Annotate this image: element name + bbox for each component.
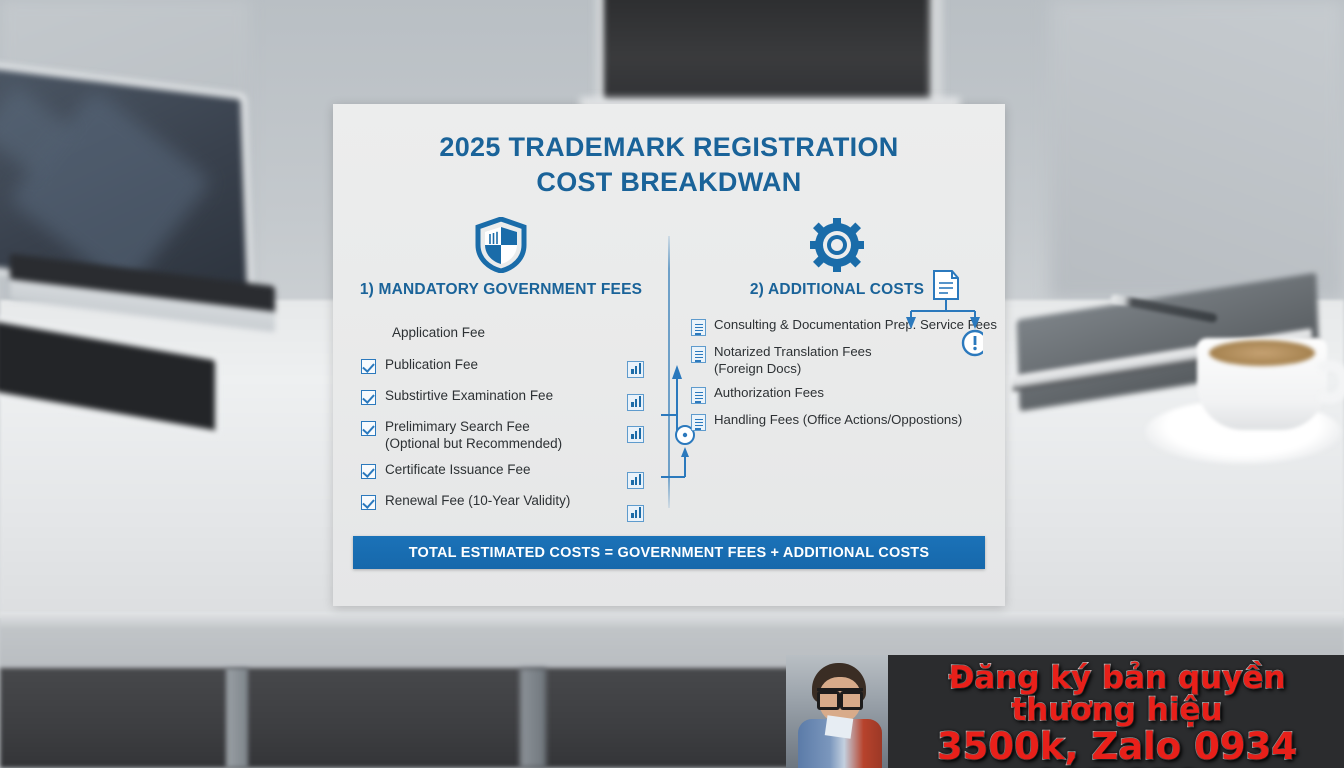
list-item[interactable]: Substirtive Examination Fee: [361, 388, 669, 410]
list-item[interactable]: Publication Fee: [361, 357, 669, 379]
checkbox-checked-icon[interactable]: [361, 359, 376, 374]
title-line-1: 2025 TRADEMARK REGISTRATION: [333, 130, 1005, 165]
flow-diagram-right: [903, 269, 983, 366]
document-icon: [691, 319, 706, 336]
chair-edge-right: [930, 0, 942, 104]
list-item-label: Handling Fees (Office Actions/Oppostions…: [714, 412, 962, 429]
infographic-card: 2025 TRADEMARK REGISTRATION COST BREAKDW…: [333, 104, 1005, 606]
document-icon: [691, 414, 706, 431]
total-estimated-costs-banner: TOTAL ESTIMATED COSTS = GOVERNMENT FEES …: [353, 536, 985, 569]
bar-chart-icon: [627, 361, 644, 378]
arrow-head-right-icon: [970, 317, 980, 329]
glasses-icon: [817, 688, 863, 701]
list-item[interactable]: Handling Fees (Office Actions/Oppostions…: [691, 412, 1005, 431]
presenter-thumbnail: [786, 655, 888, 768]
desk-leg-right: [520, 668, 546, 768]
arrow-head-left-icon: [906, 317, 916, 329]
section-heading-left: 1) MANDATORY GOVERNMENT FEES: [333, 281, 669, 299]
column-mandatory-government-fees: 1) MANDATORY GOVERNMENT FEES Application…: [333, 217, 669, 524]
promo-line-1: Đăng ký bản quyền thương hiệu: [892, 663, 1342, 726]
promo-overlay: Đăng ký bản quyền thương hiệu 3500k, Zal…: [786, 655, 1344, 768]
coffee-liquid: [1209, 340, 1315, 366]
office-chair: [604, 0, 934, 102]
list-item[interactable]: Prelimimary Search Fee (Optional but Rec…: [361, 419, 669, 453]
list-item-label: Notarized Translation Fees (Foreign Docs…: [714, 344, 872, 377]
column-additional-costs: 2) ADDITIONAL COSTS Consulting & Documen…: [669, 217, 1005, 524]
document-icon: [691, 387, 706, 404]
list-item-label: Substirtive Examination Fee: [385, 388, 553, 405]
list-item-label-sub: (Optional but Recommended): [385, 436, 562, 453]
list-item[interactable]: Certificate Issuance Fee: [361, 462, 669, 484]
promo-text-block: Đăng ký bản quyền thương hiệu 3500k, Zal…: [892, 663, 1342, 768]
title-line-2: COST BREAKDWAN: [333, 165, 1005, 200]
list-item-label-main: Notarized Translation Fees: [714, 344, 872, 359]
list-item-label: Prelimimary Search Fee (Optional but Rec…: [385, 419, 562, 453]
list-item-label: Application Fee: [392, 325, 485, 342]
alert-circle-icon: [963, 331, 983, 355]
shield-icon: [333, 217, 669, 273]
banner-label: TOTAL ESTIMATED COSTS = GOVERNMENT FEES …: [409, 545, 930, 561]
wall-panel-right: [1050, 0, 1344, 300]
columns-container: 1) MANDATORY GOVERNMENT FEES Application…: [333, 217, 1005, 524]
checkbox-checked-icon[interactable]: [361, 464, 376, 479]
document-node-icon: [934, 271, 958, 299]
promo-line-2: 3500k, Zalo 0934 023 850: [892, 728, 1342, 768]
list-item-label: Renewal Fee (10-Year Validity): [385, 493, 570, 510]
government-fees-list: Application Fee Publication Fee Substirt…: [361, 325, 669, 515]
checkbox-checked-icon[interactable]: [361, 390, 376, 405]
list-item[interactable]: Renewal Fee (10-Year Validity): [361, 493, 669, 515]
list-item-label: Publication Fee: [385, 357, 478, 374]
list-item[interactable]: Authorization Fees: [691, 385, 1005, 404]
page-title: 2025 TRADEMARK REGISTRATION COST BREAKDW…: [333, 104, 1005, 199]
checkbox-checked-icon[interactable]: [361, 421, 376, 436]
document-icon: [691, 346, 706, 363]
list-item-label: Authorization Fees: [714, 385, 824, 402]
list-item-label-main: Prelimimary Search Fee: [385, 419, 530, 434]
bar-chart-icon-column: [627, 361, 644, 537]
bar-chart-icon: [627, 394, 644, 411]
bar-chart-icon: [627, 505, 644, 522]
cup-handle: [1310, 360, 1344, 404]
list-item-label-sub: (Foreign Docs): [714, 361, 801, 376]
bar-chart-icon: [627, 472, 644, 489]
checkbox-checked-icon[interactable]: [361, 495, 376, 510]
gear-icon: [669, 217, 1005, 273]
bar-chart-icon: [627, 426, 644, 443]
presenter-collar: [825, 715, 854, 738]
list-item[interactable]: Application Fee: [361, 325, 669, 347]
list-item-label: Certificate Issuance Fee: [385, 462, 531, 479]
desk-leg-left: [226, 668, 248, 768]
